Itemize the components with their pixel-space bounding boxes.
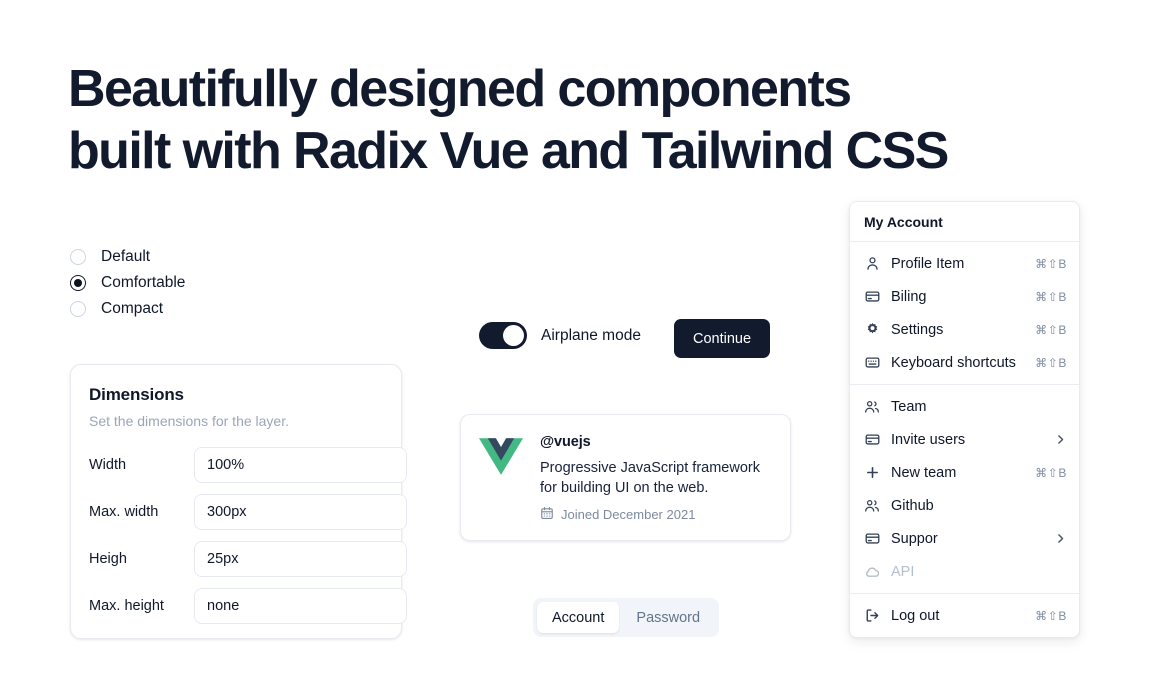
menu-item-label: Biling xyxy=(891,289,1024,305)
dropdown-header: My Account xyxy=(850,202,1079,241)
dimension-row: Max. width xyxy=(89,494,383,530)
radio-option-comfortable[interactable]: Comfortable xyxy=(70,274,185,291)
menu-item-biling[interactable]: Biling⌘⇧B xyxy=(850,280,1079,313)
dropdown-group: Profile Item⌘⇧BBiling⌘⇧BSettings⌘⇧BKeybo… xyxy=(850,242,1079,384)
radio-indicator-icon[interactable] xyxy=(70,249,86,265)
menu-item-keyboard-shortcuts[interactable]: Keyboard shortcuts⌘⇧B xyxy=(850,346,1079,379)
menu-item-team[interactable]: Team xyxy=(850,390,1079,423)
radio-option-compact[interactable]: Compact xyxy=(70,300,185,317)
user-icon xyxy=(864,256,880,272)
menu-item-label: New team xyxy=(891,465,1024,481)
toggle-knob xyxy=(503,325,524,346)
menu-item-shortcut: ⌘⇧B xyxy=(1035,609,1067,623)
hover-card-joined-text: Joined December 2021 xyxy=(561,507,695,522)
dimension-label: Width xyxy=(89,457,194,473)
airplane-mode-toggle[interactable] xyxy=(479,322,527,349)
credit-card-icon xyxy=(864,432,880,448)
credit-card-icon xyxy=(864,531,880,547)
dropdown-groups: Profile Item⌘⇧BBiling⌘⇧BSettings⌘⇧BKeybo… xyxy=(850,242,1079,637)
tab-account[interactable]: Account xyxy=(537,602,619,633)
menu-item-suppor[interactable]: Suppor xyxy=(850,522,1079,555)
calendar-icon xyxy=(540,506,554,523)
radio-indicator-icon[interactable] xyxy=(70,301,86,317)
menu-item-shortcut: ⌘⇧B xyxy=(1035,290,1067,304)
credit-card-icon xyxy=(864,289,880,305)
page-title: Beautifully designed components built wi… xyxy=(68,58,1018,182)
airplane-mode-label: Airplane mode xyxy=(541,327,641,345)
dimension-row: Max. height xyxy=(89,588,383,624)
hover-card-joined: Joined December 2021 xyxy=(540,506,772,523)
menu-item-label: Log out xyxy=(891,608,1024,624)
menu-item-new-team[interactable]: New team⌘⇧B xyxy=(850,456,1079,489)
dimensions-subtitle: Set the dimensions for the layer. xyxy=(89,413,383,429)
dimension-label: Heigh xyxy=(89,551,194,567)
vue-logo-icon xyxy=(479,436,523,476)
radio-group: DefaultComfortableCompact xyxy=(70,248,185,317)
menu-item-log-out[interactable]: Log out⌘⇧B xyxy=(850,599,1079,632)
plus-icon xyxy=(864,465,880,481)
continue-button[interactable]: Continue xyxy=(674,319,770,358)
menu-item-label: API xyxy=(891,564,1067,580)
dropdown-group: Log out⌘⇧B xyxy=(850,594,1079,637)
keyboard-icon xyxy=(864,355,880,371)
menu-item-settings[interactable]: Settings⌘⇧B xyxy=(850,313,1079,346)
chevron-right-icon xyxy=(1054,532,1067,545)
radio-option-label: Default xyxy=(101,248,150,265)
hover-card-body: @vuejs Progressive JavaScript framework … xyxy=(540,434,772,521)
radio-option-default[interactable]: Default xyxy=(70,248,185,265)
dimension-label: Max. height xyxy=(89,598,194,614)
hover-card-description: Progressive JavaScript framework for bui… xyxy=(540,458,772,498)
cloud-icon xyxy=(864,564,880,580)
dimensions-title: Dimensions xyxy=(89,385,383,405)
menu-item-github[interactable]: Github xyxy=(850,489,1079,522)
menu-item-label: Profile Item xyxy=(891,256,1024,272)
menu-item-shortcut: ⌘⇧B xyxy=(1035,466,1067,480)
menu-item-label: Keyboard shortcuts xyxy=(891,355,1024,371)
vuejs-hover-card: @vuejs Progressive JavaScript framework … xyxy=(460,414,791,541)
dropdown-group: TeamInvite usersNew team⌘⇧BGithubSupporA… xyxy=(850,385,1079,593)
tabs: AccountPassword xyxy=(533,598,719,637)
page-root: Beautifully designed components built wi… xyxy=(0,0,1152,700)
menu-item-shortcut: ⌘⇧B xyxy=(1035,257,1067,271)
hover-card-handle: @vuejs xyxy=(540,434,772,450)
tab-password[interactable]: Password xyxy=(621,602,715,633)
menu-item-profile-item[interactable]: Profile Item⌘⇧B xyxy=(850,247,1079,280)
dimensions-field-list: WidthMax. widthHeighMax. height xyxy=(89,447,383,624)
dimension-input-2[interactable] xyxy=(194,541,407,577)
dimensions-card: Dimensions Set the dimensions for the la… xyxy=(70,364,402,639)
logout-icon xyxy=(864,608,880,624)
radio-option-label: Comfortable xyxy=(101,274,185,291)
users-icon xyxy=(864,498,880,514)
menu-item-invite-users[interactable]: Invite users xyxy=(850,423,1079,456)
users-icon xyxy=(864,399,880,415)
dimension-input-3[interactable] xyxy=(194,588,407,624)
menu-item-shortcut: ⌘⇧B xyxy=(1035,356,1067,370)
menu-item-label: Settings xyxy=(891,322,1024,338)
dimension-input-1[interactable] xyxy=(194,494,407,530)
gear-icon xyxy=(864,322,880,338)
page-title-line-2: built with Radix Vue and Tailwind CSS xyxy=(68,120,1018,182)
menu-item-api: API xyxy=(850,555,1079,588)
menu-item-shortcut: ⌘⇧B xyxy=(1035,323,1067,337)
page-title-line-1: Beautifully designed components xyxy=(68,58,1018,120)
radio-indicator-icon[interactable] xyxy=(70,275,86,291)
chevron-right-icon xyxy=(1054,433,1067,446)
dimension-input-0[interactable] xyxy=(194,447,407,483)
menu-item-label: Invite users xyxy=(891,432,1043,448)
airplane-mode-switch-block: Airplane mode xyxy=(479,322,641,349)
dimension-row: Heigh xyxy=(89,541,383,577)
account-dropdown-menu: My Account Profile Item⌘⇧BBiling⌘⇧BSetti… xyxy=(849,201,1080,638)
menu-item-label: Github xyxy=(891,498,1067,514)
menu-item-label: Suppor xyxy=(891,531,1043,547)
radio-option-label: Compact xyxy=(101,300,163,317)
menu-item-label: Team xyxy=(891,399,1067,415)
dimension-row: Width xyxy=(89,447,383,483)
dimension-label: Max. width xyxy=(89,504,194,520)
